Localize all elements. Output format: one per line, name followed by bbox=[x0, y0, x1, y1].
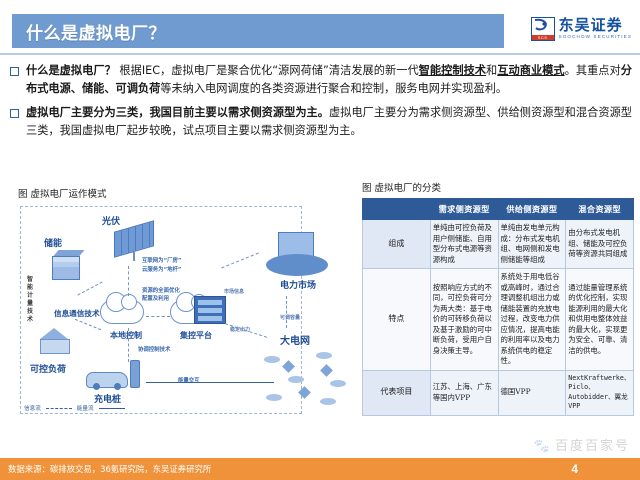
label-adjustable-capacity: 可调容量 bbox=[280, 314, 300, 321]
cell-composition-hybrid: 由分布式发电机组、储能及可控负荷等资源共同组成 bbox=[566, 220, 634, 269]
square-bullet-icon bbox=[10, 109, 19, 118]
label-storage: 储能 bbox=[44, 236, 62, 249]
right-figure: 图 虚拟电厂的分类 需求侧资源型 供给侧资源型 混合资源型 组成 单纯由可控负荷… bbox=[362, 180, 634, 416]
table-row: 代表项目 江苏、上海、广东等国内VPP 德国VPP NextKraftwerke… bbox=[363, 370, 634, 415]
logo-chinese-name: 东吴证券 bbox=[559, 18, 632, 33]
seg: 虚拟电厂主要分为三类，我国目前主要以需求侧资源型为主。 bbox=[26, 106, 329, 119]
note-resource: 资源的全面优化 bbox=[142, 286, 180, 294]
storage-icon bbox=[52, 250, 82, 280]
table-row: 组成 单纯由可控负荷及用户侧储能、自用型分布式电源等资源构成 单纯由发电单元构成… bbox=[363, 220, 634, 269]
charging-pile-icon bbox=[130, 360, 140, 388]
bullet-item: 什么是虚拟电厂？ 根据IEC，虚拟电厂是聚合优化“源网荷储”清洁发展的新一代智能… bbox=[10, 62, 632, 97]
cell-features-demand: 按照响应方式的不同，可控负荷可分为两大类：基于电价的可转移负荷以及基于激励的可中… bbox=[430, 269, 498, 371]
cell-composition-supply: 单纯由发电单元构成：分布式发电机组、电网侧和发电侧储能等组成 bbox=[498, 220, 566, 269]
row-label-composition: 组成 bbox=[363, 220, 431, 269]
header-divider bbox=[0, 53, 640, 55]
note-internet: 互联网为“厂房” bbox=[142, 256, 181, 264]
seg: 等未纳入电网调度的各类资源进行聚合和控制，服务电网并实现盈利。 bbox=[160, 82, 507, 95]
label-local-control: 本地控制 bbox=[110, 330, 142, 341]
seg: 根据IEC，虚拟电厂是聚合优化“源网荷储”清洁发展的新一代 bbox=[116, 64, 419, 77]
legend-solid-line bbox=[99, 408, 125, 409]
company-logo: SCS 东吴证券 SOOCHOW SECURITIES bbox=[531, 17, 632, 41]
server-icon bbox=[194, 296, 226, 324]
figure-caption: 图 虚拟电厂运作模式 bbox=[18, 186, 358, 200]
label-pv: 光伏 bbox=[102, 214, 120, 227]
logo-english-name: SOOCHOW SECURITIES bbox=[559, 35, 632, 40]
label-market-info: 市场信息 bbox=[224, 288, 244, 295]
vpp-operation-diagram: 光伏 储能 智能计量技术 信息通信技术 可控负荷 充电桩 本地控制 bbox=[18, 204, 354, 419]
logo-mark-text: SCS bbox=[532, 35, 554, 40]
table-header-corner bbox=[363, 199, 431, 220]
table-header-row: 需求侧资源型 供给侧资源型 混合资源型 bbox=[363, 199, 634, 220]
table-header-supply-side: 供给侧资源型 bbox=[498, 199, 566, 220]
flow-connector bbox=[146, 316, 170, 317]
left-figure: 图 虚拟电厂运作模式 光伏 储能 智能计量技术 信息通信技术 可控负荷 bbox=[18, 186, 358, 419]
note-cloud: 云服务为“地杆” bbox=[142, 265, 181, 273]
power-market-icon bbox=[266, 232, 328, 276]
label-smart-metering: 智能计量技术 bbox=[27, 276, 35, 324]
flow-connector bbox=[128, 266, 129, 296]
bullet-paragraph-1: 什么是虚拟电厂？ 根据IEC，虚拟电厂是聚合优化“源网荷储”清洁发展的新一代智能… bbox=[26, 62, 632, 97]
cell-projects-supply: 德国VPP bbox=[498, 370, 566, 415]
energy-connector bbox=[146, 382, 274, 383]
seg: 互动商业模式 bbox=[497, 64, 564, 77]
bullet-list: 什么是虚拟电厂？ 根据IEC，虚拟电厂是聚合优化“源网荷储”清洁发展的新一代智能… bbox=[10, 62, 632, 146]
paw-icon: 🐾 bbox=[534, 439, 552, 454]
grid-network-icon bbox=[260, 350, 352, 410]
controllable-load-icon bbox=[40, 328, 70, 354]
label-central-platform: 集控平台 bbox=[180, 330, 212, 341]
flow-connector bbox=[128, 328, 129, 362]
page-title: 什么是虚拟电厂？ bbox=[26, 19, 166, 44]
label-main-grid: 大电网 bbox=[280, 332, 310, 347]
watermark-text: 百度百家号 bbox=[555, 439, 630, 454]
seg: 什么是虚拟电厂？ bbox=[26, 64, 116, 77]
cell-composition-demand: 单纯由可控负荷及用户侧储能、自用型分布式电源等资源构成 bbox=[430, 220, 498, 269]
row-label-features: 特点 bbox=[363, 269, 431, 371]
data-source-note: 数据来源：碳排放交易，36氪研究院，东吴证券研究所 bbox=[8, 463, 211, 475]
seg: 和 bbox=[486, 64, 497, 77]
label-power-market: 电力市场 bbox=[280, 278, 316, 291]
seg: 。其重点对 bbox=[565, 64, 621, 77]
soochow-logo-icon: SCS bbox=[531, 17, 555, 41]
legend-label-info: 信息流 bbox=[24, 404, 41, 412]
label-controllable-load: 可控负荷 bbox=[30, 362, 66, 375]
cell-features-supply: 系统处于用电低谷或高峰时，通过合理调整机组出力或储能装置的充放电过程，改变电力供… bbox=[498, 269, 566, 371]
label-coordination-tech: 协调控制技术 bbox=[138, 345, 170, 353]
watermark: 🐾百度百家号 bbox=[534, 435, 630, 454]
slide-footer: 数据来源：碳排放交易，36氪研究院，东吴证券研究所 4 bbox=[0, 458, 640, 480]
bullet-item: 虚拟电厂主要分为三类，我国目前主要以需求侧资源型为主。虚拟电厂主要分为需求侧资源… bbox=[10, 104, 632, 139]
slide-header-bar: 什么是虚拟电厂？ bbox=[12, 14, 504, 48]
legend-label-energy: 能量流 bbox=[77, 404, 94, 412]
diagram-legend: 信息流 能量流 bbox=[24, 404, 125, 412]
classification-table: 需求侧资源型 供给侧资源型 混合资源型 组成 单纯由可控负荷及用户侧储能、自用型… bbox=[362, 198, 634, 416]
bullet-paragraph-2: 虚拟电厂主要分为三类，我国目前主要以需求侧资源型为主。虚拟电厂主要分为需求侧资源… bbox=[26, 104, 632, 139]
table-header-hybrid: 混合资源型 bbox=[566, 199, 634, 220]
row-label-projects: 代表项目 bbox=[363, 370, 431, 415]
label-ict: 信息通信技术 bbox=[54, 308, 100, 319]
cell-projects-demand: 江苏、上海、广东等国内VPP bbox=[430, 370, 498, 415]
legend-dashed-line bbox=[46, 408, 72, 409]
table-header-demand-side: 需求侧资源型 bbox=[430, 199, 498, 220]
flow-connector bbox=[286, 296, 287, 328]
page-number: 4 bbox=[571, 462, 578, 476]
table-caption: 图 虚拟电厂的分类 bbox=[362, 180, 634, 194]
square-bullet-icon bbox=[10, 67, 19, 76]
table-row: 特点 按照响应方式的不同，可控负荷可分为两大类：基于电价的可转移负荷以及基于激励… bbox=[363, 269, 634, 371]
local-control-cloud-icon bbox=[100, 300, 144, 324]
note-resource-2: 配置及利用 bbox=[142, 294, 169, 302]
ev-car-icon bbox=[86, 372, 128, 388]
cell-projects-hybrid: NextKraftwerke、Piclo、Autobidder、翼龙VPP bbox=[566, 370, 634, 415]
seg: 智能控制技术 bbox=[419, 64, 486, 77]
cell-features-hybrid: 通过能量管理系统的优化控制，实现能源利用的最大化和供用电整体效益的最大化，实现更… bbox=[566, 269, 634, 371]
